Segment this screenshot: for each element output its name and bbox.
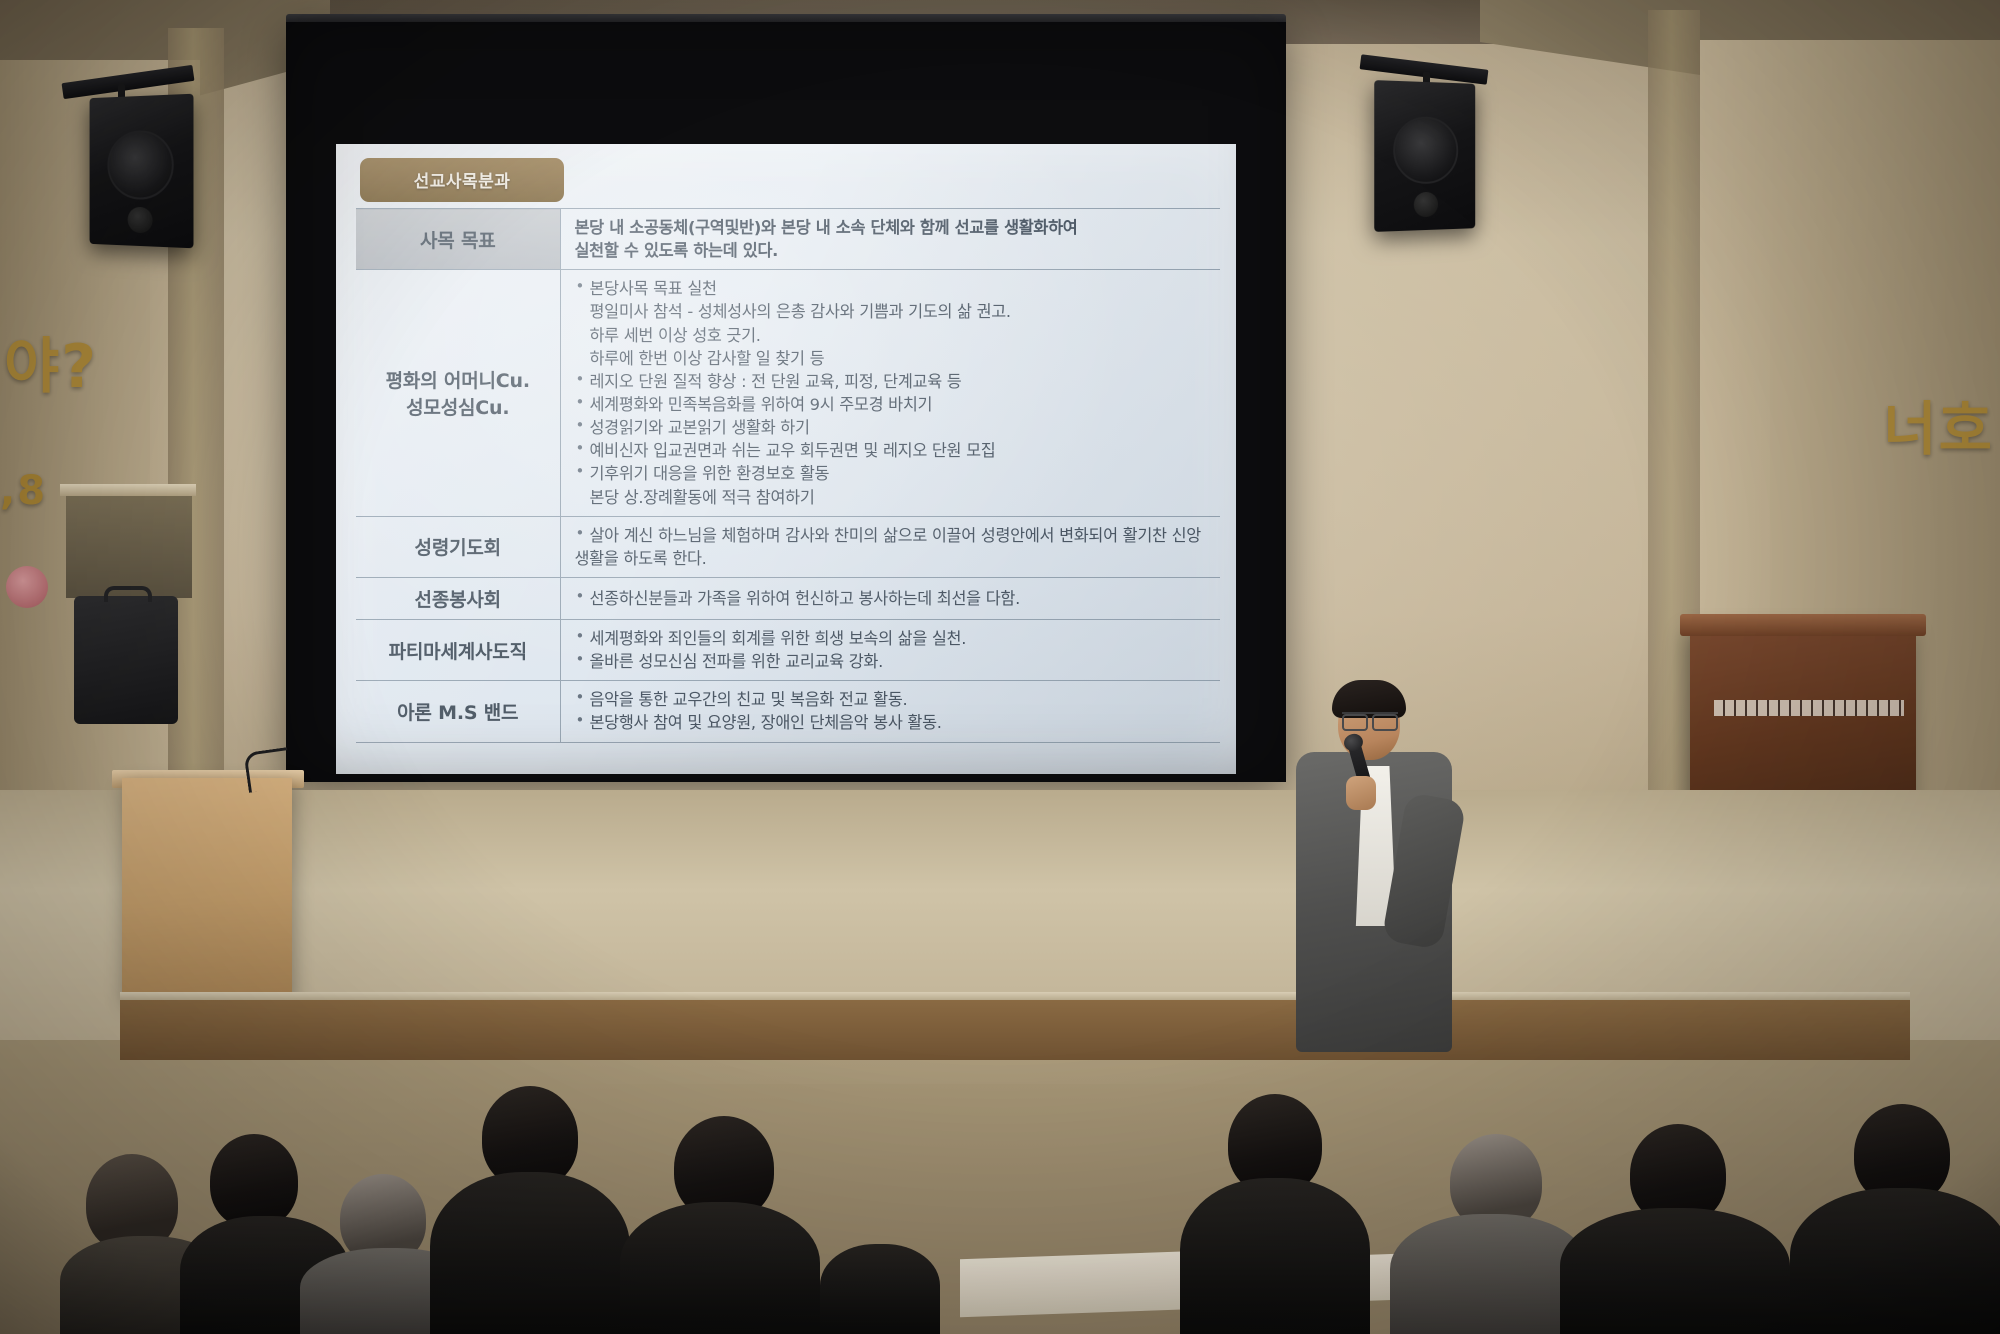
audience-member [620,1116,820,1334]
row-label-fatima: 파티마세계사도직 [356,619,560,680]
wall-lettering-left-small: ,8 [0,468,47,514]
loudspeaker-right [1374,80,1475,232]
wall-decoration-dot [6,566,48,608]
row-label-holyspirit: 성령기도회 [356,516,560,577]
wall-lettering-left: 야? [4,318,98,405]
list-item: 올바른 성모신심 전파를 위한 교리교육 강화. [575,650,1217,673]
row-body-legion: 본당사목 목표 실천 평일미사 참석 - 성체성사의 은총 감사와 기쁨과 기도… [560,270,1220,516]
projection-screen: 선교사목분과 사목 목표 본당 내 소공동체(구역및반)와 본당 내 소속 단체… [286,22,1286,782]
list-item: 하루 세번 이상 성호 긋기. [575,324,1217,347]
audience-member [430,1086,630,1334]
list-item: 평일미사 참석 - 성체성사의 은총 감사와 기쁨과 기도의 삶 권고. [575,300,1217,323]
wooden-podium [122,778,292,1000]
list-item: 선종하신분들과 가족을 위하여 헌신하고 봉사하는데 최선을 다함. [575,587,1217,610]
speaker-cone-icon [1393,116,1458,184]
conference-room-scene: 야? ,8 너호 선교사목분과 사목 목표 [0,0,2000,1334]
wall-lettering-right: 너호 [1883,382,1994,466]
list-item: 생활을 하도록 한다. [575,547,1217,570]
audience-body [1560,1208,1790,1334]
list-item: 본당행사 참여 및 요양원, 장애인 단체음악 봉사 활동. [575,711,1217,734]
table-row-fatima: 파티마세계사도직 세계평화와 죄인들의 회계를 위한 희생 보속의 삶을 실천.… [356,619,1220,680]
equipment-case [74,596,178,724]
row-label-legion-line1: 평화의 어머니Cu. [360,366,556,393]
list-item: 음악을 통한 교우간의 친교 및 복음화 전교 활동. [575,688,1217,711]
list-item: 본당 상.장례활동에 적극 참여하기 [575,486,1217,509]
podium-microphone-arm [243,747,292,793]
wall-alcove [66,492,192,598]
audience-body [620,1202,820,1334]
row-body-band: 음악을 통한 교우간의 친교 및 복음화 전교 활동. 본당행사 참여 및 요양… [560,681,1220,742]
audience-area [0,1004,2000,1334]
presentation-slide: 선교사목분과 사목 목표 본당 내 소공동체(구역및반)와 본당 내 소속 단체… [336,144,1236,774]
list-item: 레지오 단원 질적 향상 : 전 단원 교육, 피정, 단계교육 등 [575,370,1217,393]
equipment-shelf [60,484,196,496]
list-item: 살아 계신 하느님을 체험하며 감사와 찬미의 삶으로 이끌어 성령안에서 변화… [575,524,1217,547]
list-item: 예비신자 입교권면과 쉬는 교우 회두권면 및 레지오 단원 모집 [575,439,1217,462]
goal-line-2: 실천할 수 있도록 하는데 있다. [575,239,1217,262]
list-item: 기후위기 대응을 위한 환경보호 활동 [575,462,1217,485]
speaker-tweeter-icon [1414,192,1438,218]
row-label-legion-line2: 성모성심Cu. [360,393,556,420]
audience-member [820,1244,940,1334]
audience-head [210,1134,298,1228]
speaker-cone-icon [107,130,173,200]
audience-body [1790,1188,2000,1334]
glasses-icon [1342,712,1398,725]
equipment-case-handle [104,586,152,602]
row-body-fatima: 세계평화와 죄인들의 회계를 위한 희생 보속의 삶을 실천. 올바른 성모신심… [560,619,1220,680]
list-item: 세계평화와 민족복음화를 위하여 9시 주모경 바치기 [575,393,1217,416]
speaker-tweeter-icon [128,206,153,233]
audience-member [1790,1104,2000,1334]
row-label-funeral: 선종봉사회 [356,577,560,619]
audience-member [1180,1094,1370,1334]
audience-body [1180,1178,1370,1334]
row-label-band: 아론 M.S 밴드 [356,681,560,742]
table-row-band: 아론 M.S 밴드 음악을 통한 교우간의 친교 및 복음화 전교 활동. 본당… [356,681,1220,742]
table-row-holyspirit: 성령기도회 살아 계신 하느님을 체험하며 감사와 찬미의 삶으로 이끌어 성령… [356,516,1220,577]
table-row-goal: 사목 목표 본당 내 소공동체(구역및반)와 본당 내 소속 단체와 함께 선교… [356,209,1220,270]
list-item: 성경읽기와 교본읽기 생활화 하기 [575,416,1217,439]
table-row-funeral: 선종봉사회 선종하신분들과 가족을 위하여 헌신하고 봉사하는데 최선을 다함. [356,577,1220,619]
piano-lid [1680,614,1926,636]
pastoral-plan-table: 사목 목표 본당 내 소공동체(구역및반)와 본당 내 소속 단체와 함께 선교… [356,208,1220,743]
goal-line-1: 본당 내 소공동체(구역및반)와 본당 내 소속 단체와 함께 선교를 생활화하… [575,216,1217,239]
loudspeaker-left [90,94,194,249]
audience-body [430,1172,630,1334]
row-label-legion: 평화의 어머니Cu. 성모성심Cu. [356,270,560,516]
table-row-legion: 평화의 어머니Cu. 성모성심Cu. 본당사목 목표 실천 평일미사 참석 - … [356,270,1220,516]
list-item: 세계평화와 죄인들의 회계를 위한 희생 보속의 삶을 실천. [575,627,1217,650]
audience-member [1560,1124,1790,1334]
audience-body [820,1244,940,1334]
department-tab-label: 선교사목분과 [360,158,564,202]
row-body-goal: 본당 내 소공동체(구역및반)와 본당 내 소속 단체와 함께 선교를 생활화하… [560,209,1220,270]
list-item: 본당사목 목표 실천 [575,277,1217,300]
piano-keys [1714,700,1904,716]
row-body-holyspirit: 살아 계신 하느님을 체험하며 감사와 찬미의 삶으로 이끌어 성령안에서 변화… [560,516,1220,577]
row-label-goal: 사목 목표 [356,209,560,270]
row-body-funeral: 선종하신분들과 가족을 위하여 헌신하고 봉사하는데 최선을 다함. [560,577,1220,619]
list-item: 하루에 한번 이상 감사할 일 찾기 등 [575,347,1217,370]
presenter-hand [1346,776,1376,810]
